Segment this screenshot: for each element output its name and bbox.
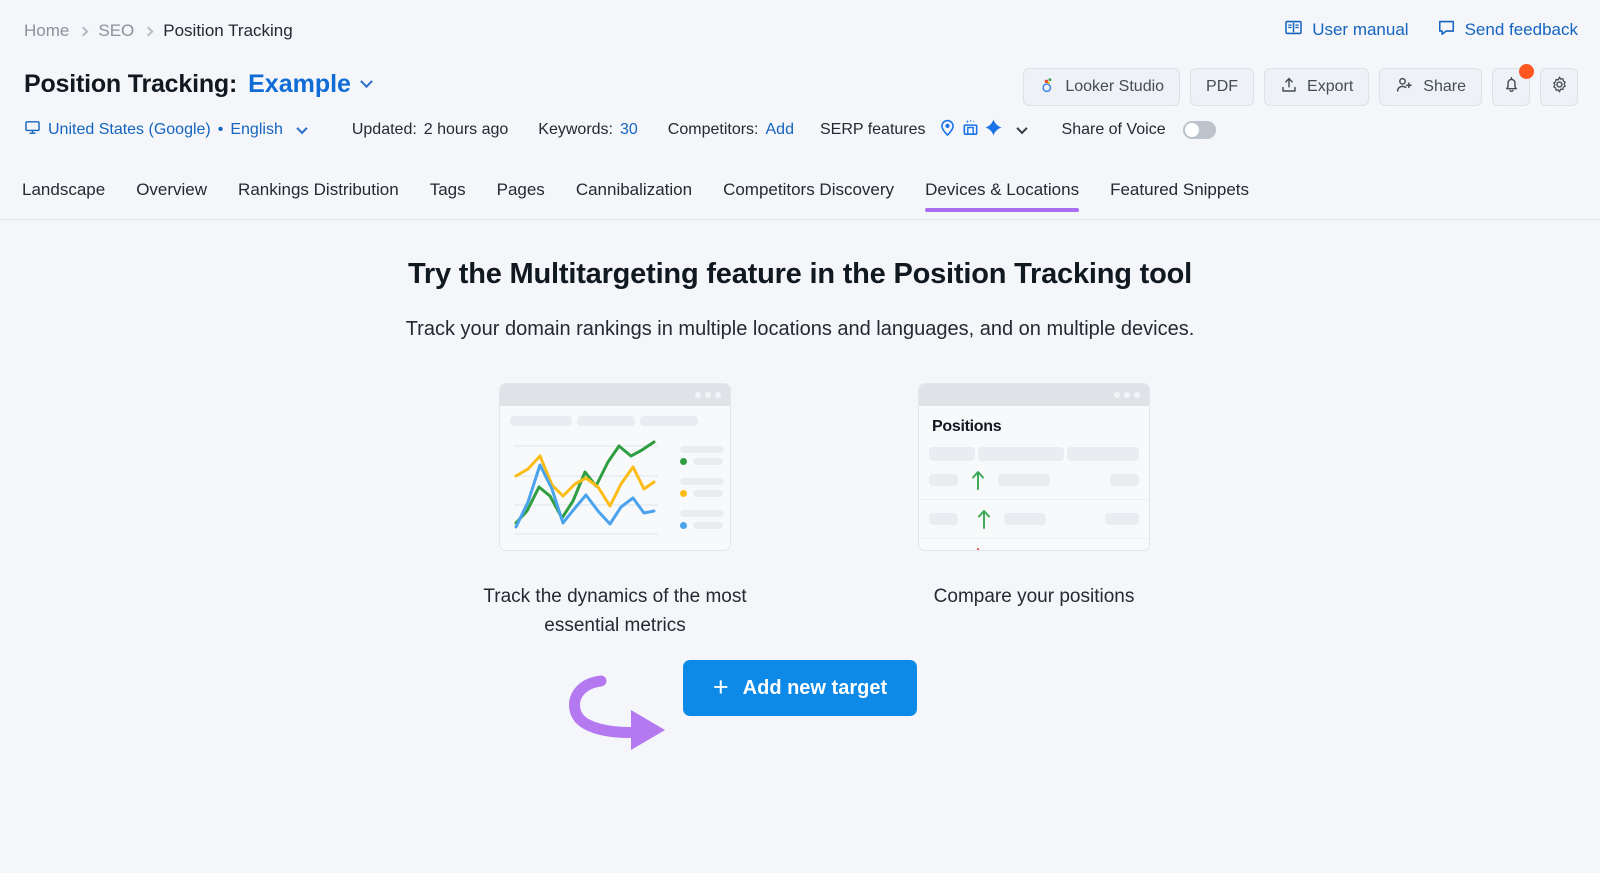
page-title: Position Tracking: Example (24, 70, 371, 99)
cta-section: + Add new target (0, 660, 1600, 716)
skeleton-bar (693, 522, 723, 529)
competitors-info: Competitors: Add (668, 121, 794, 139)
skeleton-bar (577, 416, 635, 426)
add-new-target-button[interactable]: + Add new target (683, 660, 917, 716)
serp-features[interactable]: SERP features (820, 118, 1026, 142)
project-name[interactable]: Example (248, 70, 351, 99)
skeleton-bar (998, 474, 1050, 486)
skeleton-bar (978, 447, 1064, 461)
upload-icon (1280, 76, 1298, 99)
chart-filter-placeholders (500, 406, 730, 426)
table-row (919, 500, 1149, 539)
meta-separator: • (218, 121, 224, 139)
chevron-right-icon (144, 26, 154, 36)
book-icon (1284, 18, 1303, 42)
positions-mockup-title: Positions (919, 406, 1149, 436)
app-page: Home SEO Position Tracking User manual (0, 0, 1600, 873)
desktop-monitor-icon (24, 119, 41, 141)
chat-bubble-icon (1437, 18, 1456, 42)
looker-studio-button[interactable]: Looker Studio (1023, 68, 1180, 106)
skeleton-bar (680, 446, 724, 453)
legend-group (680, 446, 724, 465)
skeleton-bar (1105, 513, 1139, 525)
skeleton-bar (1004, 513, 1046, 525)
window-dot-icon (1114, 392, 1120, 398)
keywords-value[interactable]: 30 (620, 121, 638, 139)
tab-rankings-distribution[interactable]: Rankings Distribution (238, 180, 399, 211)
language-label: English (230, 121, 282, 139)
positions-table-header (919, 436, 1149, 461)
notification-badge (1519, 64, 1534, 79)
chevron-right-icon (79, 26, 89, 36)
serp-features-label: SERP features (820, 121, 926, 139)
nav-tabs: Landscape Overview Rankings Distribution… (0, 180, 1600, 220)
tab-featured-snippets[interactable]: Featured Snippets (1110, 180, 1249, 211)
skeleton-bar (680, 510, 724, 517)
chart-legend (680, 446, 724, 529)
bell-icon (1502, 75, 1521, 99)
share-button[interactable]: Share (1379, 68, 1482, 106)
window-dot-icon (715, 392, 721, 398)
share-of-voice-label: Share of Voice (1062, 121, 1166, 139)
toggle-knob (1185, 123, 1199, 137)
skeleton-bar (510, 416, 572, 426)
export-button[interactable]: Export (1264, 68, 1369, 106)
location-label: United States (Google) (48, 121, 211, 139)
notifications-button[interactable] (1492, 68, 1530, 106)
plus-icon: + (713, 674, 729, 701)
person-add-icon (1395, 75, 1414, 99)
chart-plot-area (500, 426, 731, 546)
mockup-window-bar (919, 384, 1149, 406)
pdf-label: PDF (1206, 78, 1238, 96)
window-dot-icon (1124, 392, 1130, 398)
trend-down-icon (966, 548, 990, 551)
legend-dot-icon (680, 458, 687, 465)
tab-competitors-discovery[interactable]: Competitors Discovery (723, 180, 894, 211)
legend-dot-icon (680, 490, 687, 497)
user-manual-link[interactable]: User manual (1284, 18, 1408, 42)
gear-icon (1550, 75, 1569, 99)
action-toolbar: Looker Studio PDF Export (1023, 68, 1578, 106)
breadcrumb-item-home[interactable]: Home (24, 21, 69, 41)
competitors-label: Competitors: (668, 121, 759, 139)
promo-card-positions: Positions (918, 383, 1150, 641)
chevron-down-icon[interactable] (360, 75, 373, 88)
tab-devices-and-locations[interactable]: Devices & Locations (925, 180, 1079, 211)
share-of-voice-toggle[interactable] (1183, 121, 1216, 139)
share-label: Share (1423, 78, 1466, 96)
legend-group (680, 510, 724, 529)
table-row (919, 461, 1149, 500)
page-title-label: Position Tracking: (24, 70, 237, 99)
promo-cards: Track the dynamics of the most essential… (0, 383, 1600, 641)
keywords-label: Keywords: (538, 121, 613, 139)
chevron-down-icon[interactable] (1016, 123, 1027, 134)
promo-card-metrics: Track the dynamics of the most essential… (450, 383, 780, 641)
share-of-voice-control: Share of Voice (1062, 121, 1216, 139)
serp-feature-icons (938, 118, 1003, 142)
legend-group (680, 478, 724, 497)
promo-card-caption: Track the dynamics of the most essential… (450, 582, 780, 641)
updated-label: Updated: (352, 121, 417, 139)
pdf-button[interactable]: PDF (1190, 68, 1254, 106)
send-feedback-link[interactable]: Send feedback (1437, 18, 1578, 42)
map-pin-icon[interactable] (938, 118, 957, 142)
tab-landscape[interactable]: Landscape (22, 180, 105, 211)
tab-overview[interactable]: Overview (136, 180, 207, 211)
skeleton-bar (693, 458, 723, 465)
skeleton-bar (680, 478, 724, 485)
promo-title: Try the Multitargeting feature in the Po… (0, 258, 1600, 291)
window-dot-icon (705, 392, 711, 398)
legend-item-green (680, 458, 724, 465)
skeleton-bar (1110, 474, 1139, 486)
promo-card-caption: Compare your positions (934, 582, 1135, 611)
skeleton-bar (1067, 447, 1139, 461)
updated-value: 2 hours ago (424, 121, 509, 139)
looker-studio-label: Looker Studio (1065, 78, 1164, 96)
promo-section: Try the Multitargeting feature in the Po… (0, 221, 1600, 641)
skeleton-bar (929, 513, 958, 525)
table-row (919, 539, 1149, 551)
breadcrumb-item-position-tracking: Position Tracking (163, 21, 292, 41)
skeleton-bar (929, 447, 975, 461)
trend-up-icon (966, 470, 990, 490)
meta-row: United States (Google) • English Updated… (24, 118, 1216, 142)
skeleton-bar (640, 416, 698, 426)
curved-arrow-icon (543, 668, 693, 768)
trend-up-icon (972, 509, 996, 529)
window-dot-icon (695, 392, 701, 398)
top-links: User manual Send feedback (1284, 18, 1578, 42)
legend-item-blue (680, 522, 724, 529)
breadcrumb-item-seo[interactable]: SEO (98, 21, 134, 41)
chart-mockup (499, 383, 731, 551)
tab-cannibalization[interactable]: Cannibalization (576, 180, 692, 211)
chevron-down-icon[interactable] (296, 123, 307, 134)
window-dot-icon (1134, 392, 1140, 398)
breadcrumb: Home SEO Position Tracking (24, 21, 293, 41)
location-selector[interactable]: United States (Google) • English (24, 119, 306, 141)
legend-item-yellow (680, 490, 724, 497)
tab-tags[interactable]: Tags (430, 180, 466, 211)
hotels-icon[interactable] (961, 118, 980, 142)
mockup-window-bar (500, 384, 730, 406)
send-feedback-label: Send feedback (1465, 20, 1578, 40)
ai-sparkle-icon[interactable] (984, 118, 1003, 142)
user-manual-label: User manual (1312, 20, 1408, 40)
competitors-add-link[interactable]: Add (766, 121, 794, 139)
keywords-info: Keywords: 30 (538, 121, 638, 139)
updated-info: Updated: 2 hours ago (352, 121, 508, 139)
tab-pages[interactable]: Pages (497, 180, 545, 211)
settings-button[interactable] (1540, 68, 1578, 106)
skeleton-bar (929, 474, 958, 486)
promo-subtitle: Track your domain rankings in multiple l… (0, 318, 1600, 341)
export-label: Export (1307, 78, 1353, 96)
add-new-target-label: Add new target (743, 677, 887, 700)
skeleton-bar (693, 490, 723, 497)
legend-dot-icon (680, 522, 687, 529)
looker-studio-icon (1039, 76, 1056, 98)
positions-mockup: Positions (918, 383, 1150, 551)
